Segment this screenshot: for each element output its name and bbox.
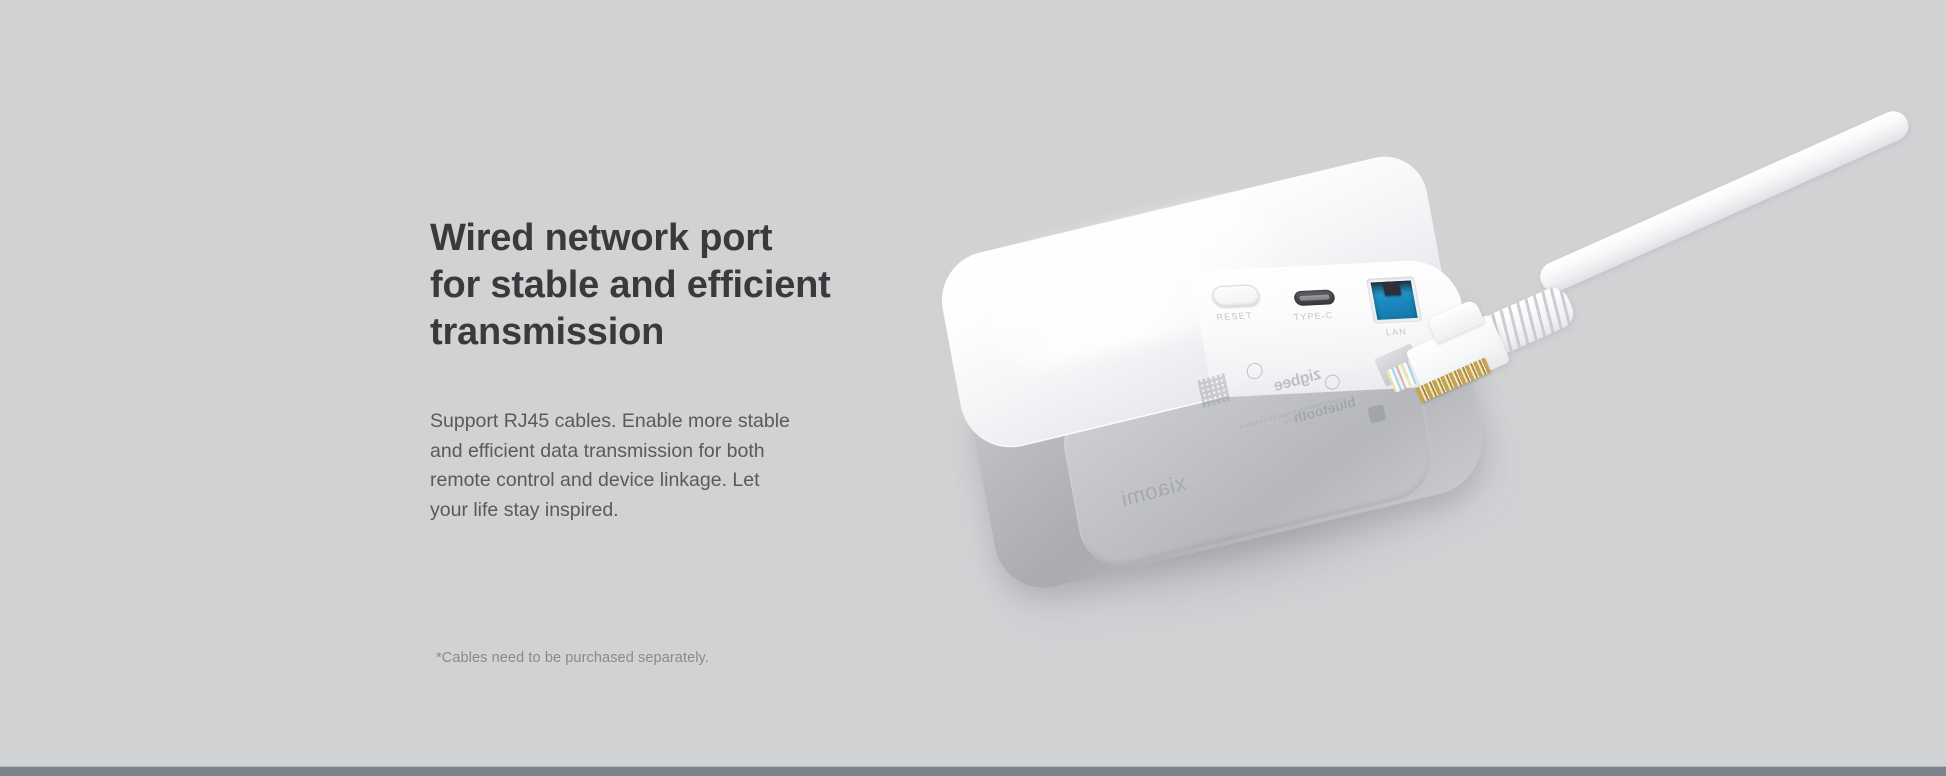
- qr-code-icon: [1197, 373, 1230, 408]
- bluetooth-badge-icon: [1367, 404, 1386, 424]
- usb-c-tongue: [1299, 295, 1330, 301]
- product-feature-section: Wired network port for stable and effici…: [0, 0, 1946, 776]
- zigbee-logo: zigbee: [1273, 366, 1323, 396]
- feature-text-column: Wired network port for stable and effici…: [430, 215, 930, 356]
- horizontal-scrollbar[interactable]: [0, 767, 1946, 776]
- reset-button: [1211, 284, 1261, 307]
- ethernet-cable-cord: [1535, 106, 1913, 296]
- xiaomi-brand-mark: xiaomi: [1119, 470, 1189, 513]
- page-title: Wired network port for stable and effici…: [430, 215, 930, 356]
- footnote-disclaimer: *Cables need to be purchased separately.: [436, 650, 709, 666]
- certification-icon: [1245, 361, 1264, 381]
- product-image: RESET TYPE-C LAN: [960, 180, 1946, 600]
- feature-description: Support RJ45 cables. Enable more stable …: [430, 407, 800, 525]
- reset-label: RESET: [1216, 310, 1254, 322]
- bluetooth-mark-icon: [1324, 373, 1342, 392]
- usb-type-c-port: [1293, 289, 1336, 306]
- device-fineprint: Model: DMWG03LM Input: 5V=1A Made in Chi…: [1236, 396, 1345, 439]
- type-c-label: TYPE-C: [1293, 310, 1335, 322]
